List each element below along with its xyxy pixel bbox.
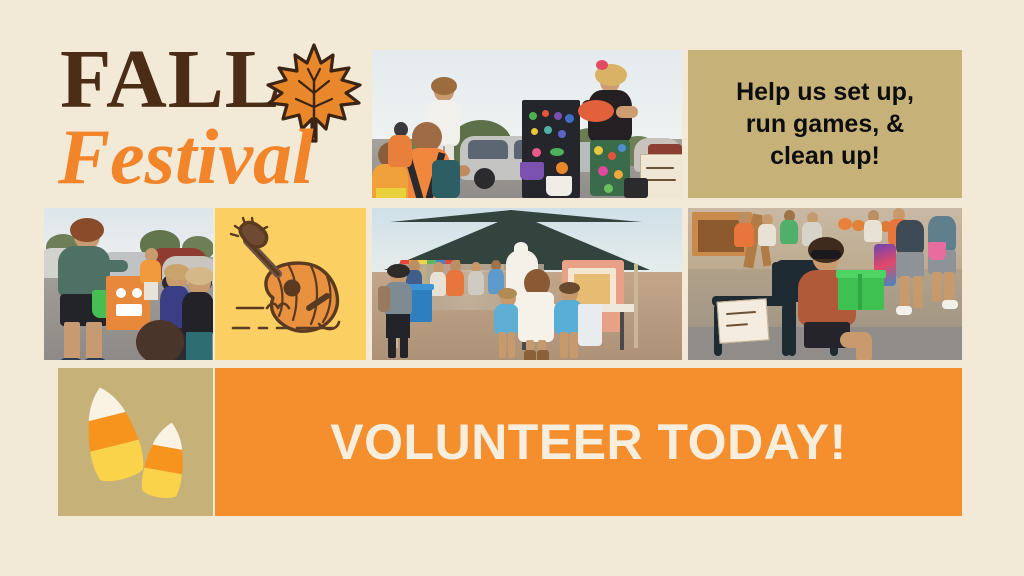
title-block: FALL Festival	[56, 44, 372, 194]
help-text: Help us set up, run games, & clean up!	[726, 76, 924, 172]
photo-candy-handout	[44, 208, 213, 360]
acoustic-guitar-icon	[223, 216, 358, 352]
fall-festival-flyer: FALL Festival	[0, 0, 1024, 576]
volunteer-banner[interactable]: VOLUNTEER TODAY!	[215, 368, 962, 516]
candy-corn-icon	[72, 380, 200, 504]
photo-game-booth	[688, 208, 962, 360]
candy-corn-panel	[58, 368, 213, 516]
page-title-fall: FALL	[60, 38, 282, 122]
guitar-illustration-panel	[215, 208, 366, 360]
volunteer-banner-text: VOLUNTEER TODAY!	[330, 413, 846, 471]
help-text-panel: Help us set up, run games, & clean up!	[688, 50, 962, 198]
photo-festival-tent	[372, 208, 682, 360]
page-title-festival: Festival	[58, 118, 314, 196]
photo-trunk-or-treat	[372, 50, 682, 198]
